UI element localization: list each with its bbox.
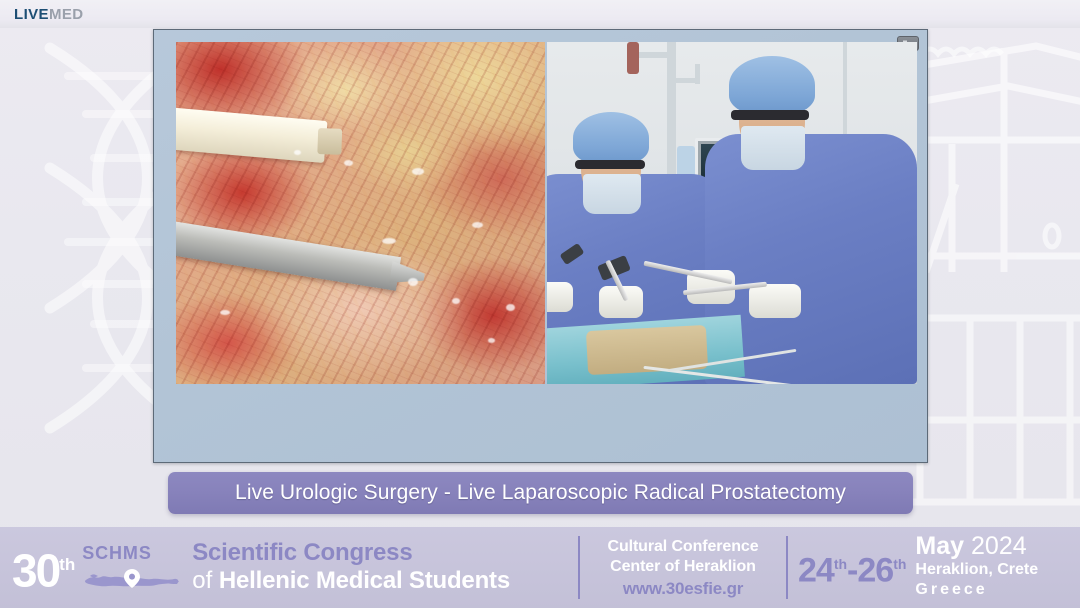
specular-highlight	[506, 304, 515, 311]
date-day-end: 26	[857, 552, 893, 590]
date-day-start-suffix: th	[834, 556, 847, 572]
surgical-mask	[583, 174, 641, 214]
operating-room-scene	[547, 42, 918, 384]
congress-title: Scientific Congress of Hellenic Medical …	[192, 540, 510, 596]
footer-congress-branding: 30th SCHMS Scientific Congress of Hellen…	[0, 527, 578, 608]
congress-dates: 24th-26th	[798, 547, 906, 587]
footer-date-block: 24th-26th May 2024 Heraklion, Crete Gree…	[788, 527, 1080, 608]
specular-highlight	[408, 278, 418, 286]
3d-glasses	[731, 110, 809, 120]
surgical-tissue-view	[176, 42, 545, 384]
city-value: Heraklion, Crete	[915, 560, 1038, 580]
country-value: Greece	[915, 580, 1038, 600]
congress-line-2: Hellenic Medical Students	[219, 567, 510, 594]
specular-highlight	[382, 238, 396, 244]
month-year: May 2024	[915, 532, 1026, 560]
surgical-cap	[573, 112, 649, 164]
ceiling-fixture	[627, 42, 639, 74]
congress-footer: 30th SCHMS Scientific Congress of Hellen…	[0, 527, 1080, 608]
page-background: LIVEMED	[0, 0, 1080, 608]
building-line-art-background	[916, 24, 1080, 274]
schms-logo: SCHMS	[82, 544, 182, 591]
specular-highlight	[412, 168, 424, 175]
edition-suffix: th	[59, 555, 75, 574]
specular-highlight	[344, 160, 353, 166]
laparoscopic-camera-feed[interactable]	[176, 42, 545, 384]
specular-highlight	[294, 150, 301, 155]
specular-highlight	[452, 298, 460, 304]
venue-line-1: Cultural Conference	[607, 537, 758, 557]
equipment-arm	[637, 52, 671, 58]
schms-abbrev: SCHMS	[82, 543, 152, 563]
congress-website-link[interactable]: www.30esfie.gr	[623, 579, 743, 599]
crete-island-map-icon	[82, 565, 182, 591]
3d-glasses	[575, 160, 645, 169]
year-value: 2024	[971, 532, 1027, 560]
operating-room-camera-feed[interactable]	[547, 42, 918, 384]
session-title-text: Live Urologic Surgery - Live Laparoscopi…	[235, 481, 846, 505]
congress-line-1: Scientific Congress	[192, 539, 412, 566]
month-value: May	[915, 532, 964, 560]
date-day-start: 24	[798, 552, 834, 590]
edition-number-value: 30	[12, 544, 59, 596]
brand-live-text: LIVE	[14, 6, 49, 23]
equipment-arm	[695, 64, 700, 84]
surgical-glove	[547, 282, 573, 312]
video-player-frame	[153, 29, 928, 463]
session-title-banner: Live Urologic Surgery - Live Laparoscopi…	[168, 472, 913, 514]
footer-venue-block: Cultural Conference Center of Heraklion …	[580, 527, 786, 608]
specular-highlight	[472, 222, 483, 228]
livemed-logo: LIVEMED	[14, 7, 84, 23]
specular-highlight	[488, 338, 495, 343]
date-separator: -	[847, 552, 857, 590]
top-highlight-strip	[0, 0, 1080, 28]
congress-when-where: May 2024 Heraklion, Crete Greece	[915, 536, 1038, 600]
specular-highlight	[220, 310, 230, 315]
surgical-cap	[729, 56, 815, 114]
surgical-mask	[741, 126, 805, 170]
date-day-end-suffix: th	[893, 556, 906, 572]
video-split-view[interactable]	[176, 42, 917, 384]
equipment-arm	[671, 78, 697, 83]
venue-line-2: Center of Heraklion	[610, 557, 756, 577]
edition-number: 30th	[12, 542, 75, 593]
brand-med-text: MED	[49, 6, 84, 23]
congress-line-2-prefix: of	[192, 567, 219, 594]
surgical-glove	[749, 284, 801, 318]
